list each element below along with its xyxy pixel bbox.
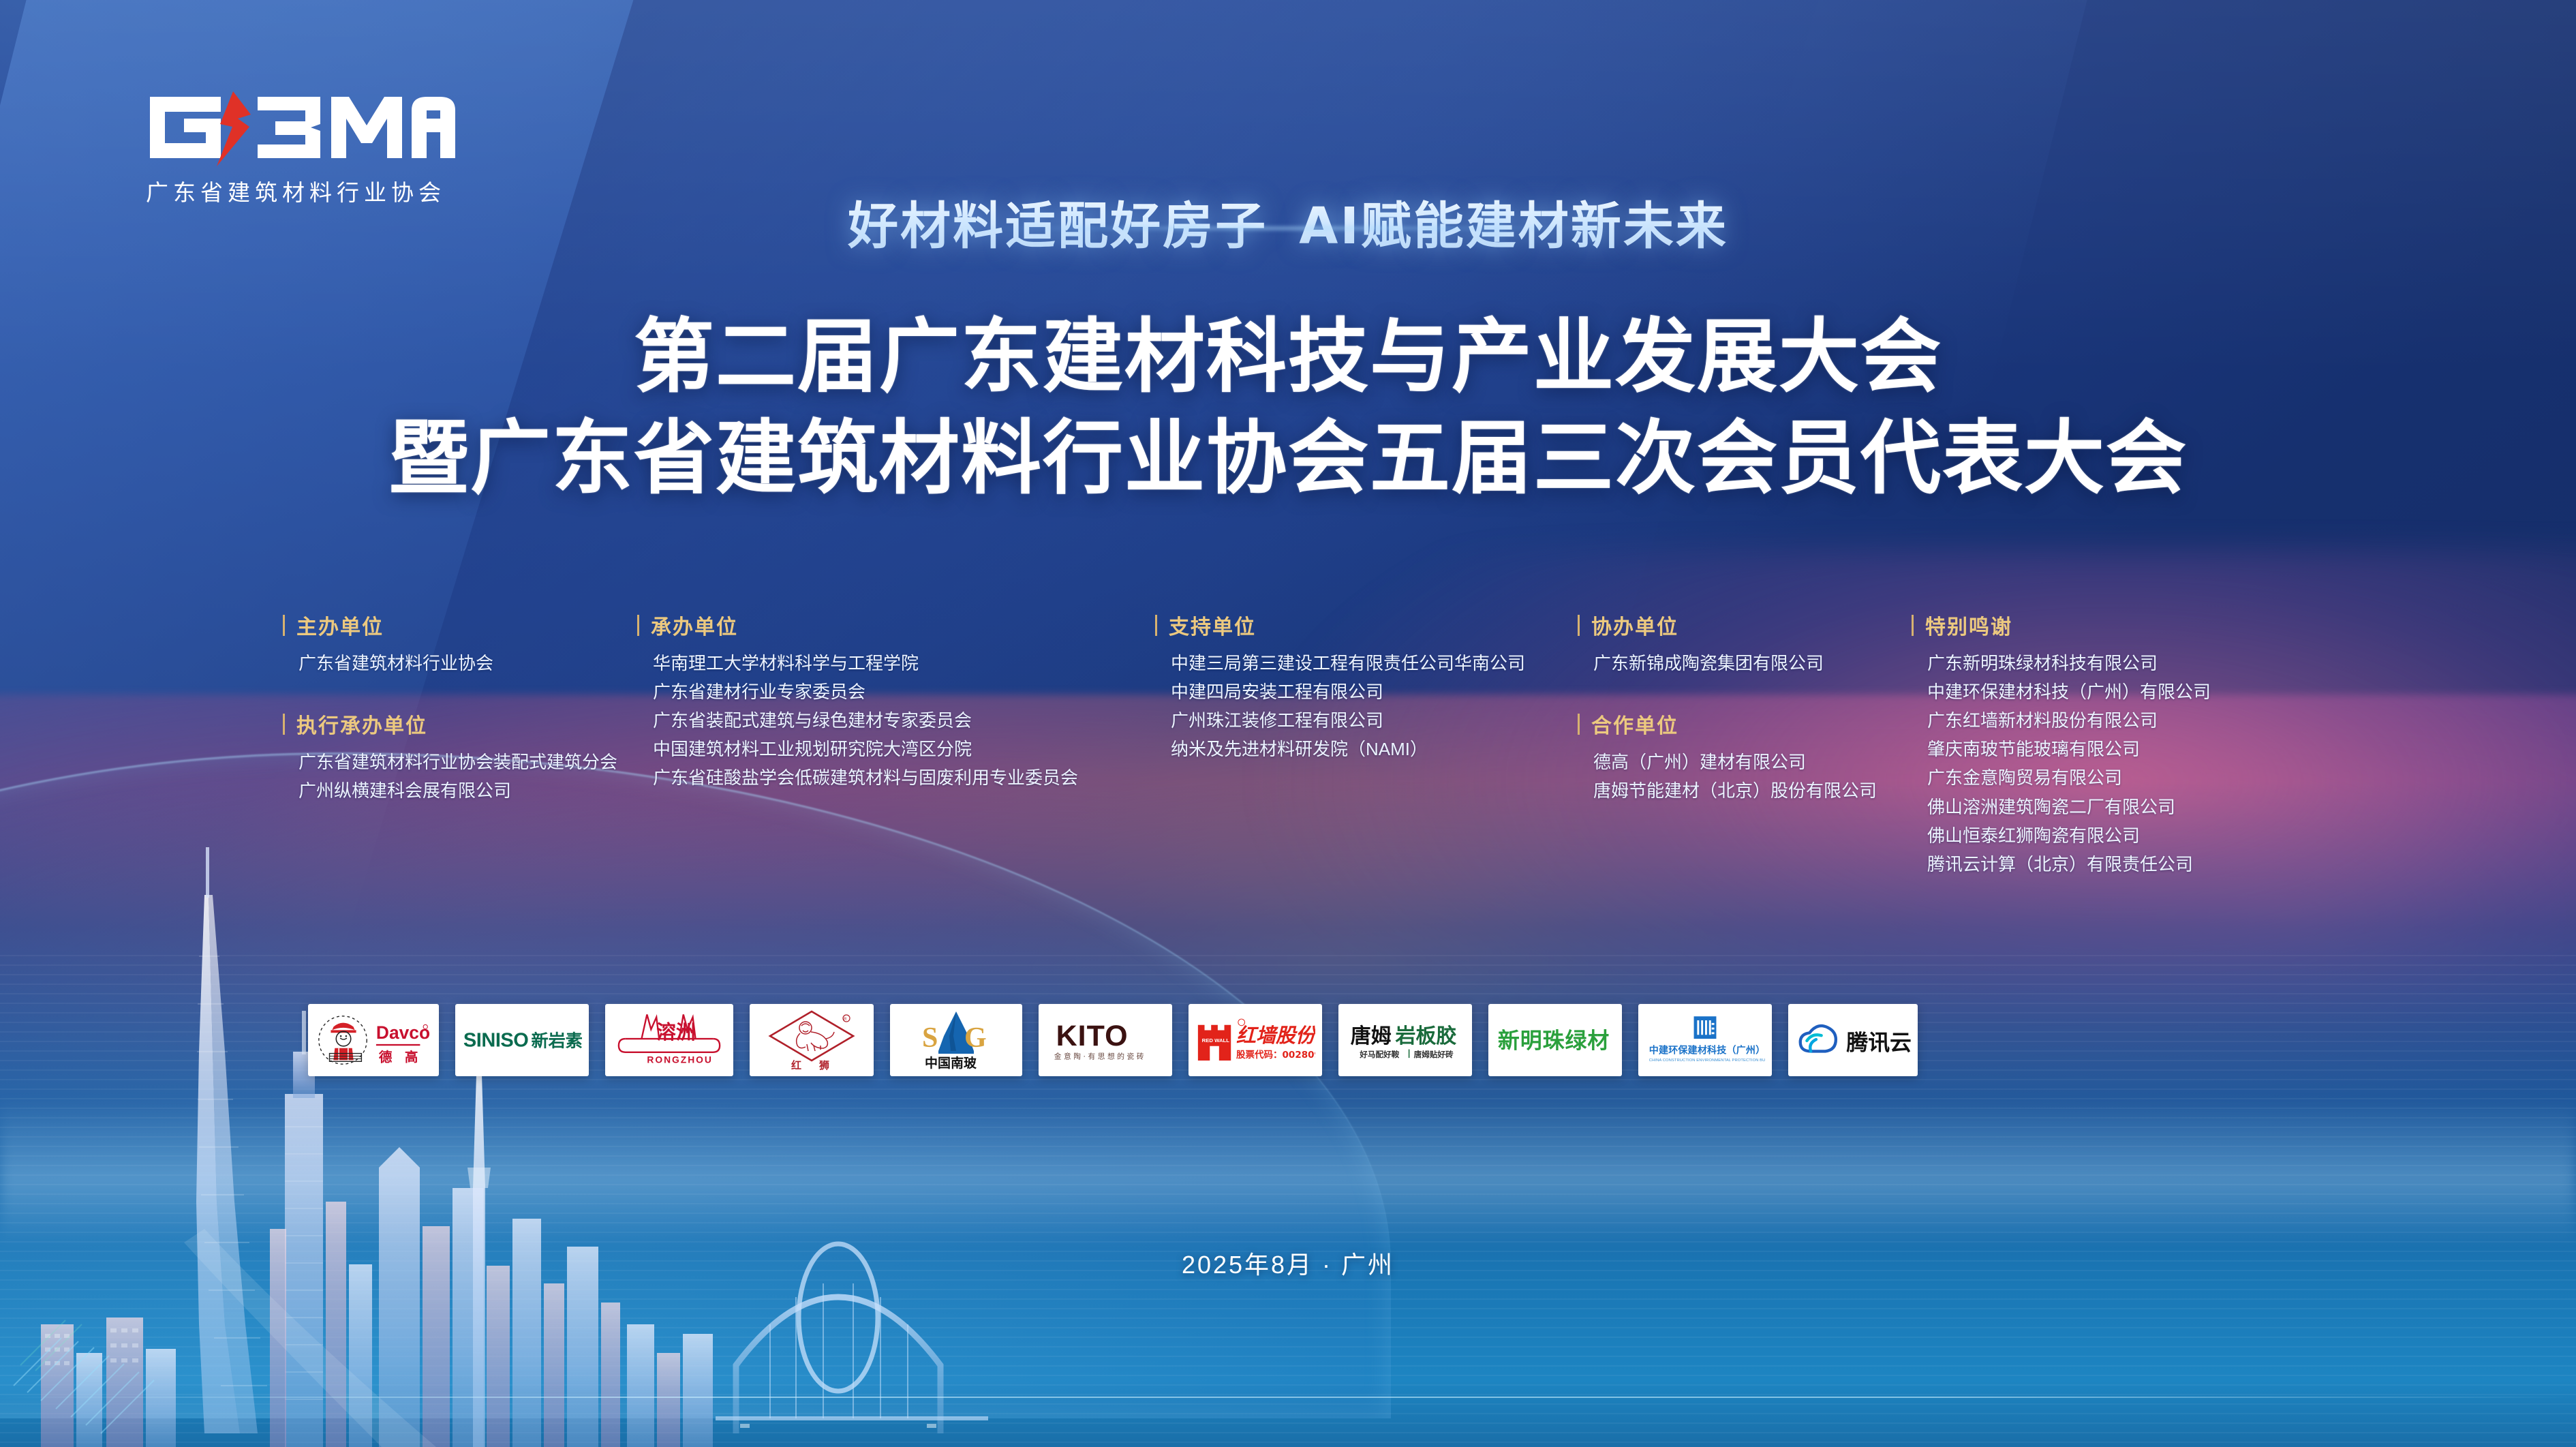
svg-text:红狮: 红狮: [791, 1059, 847, 1071]
svg-text:Davco: Davco: [376, 1022, 430, 1043]
svg-text:红墙股份: 红墙股份: [1236, 1024, 1315, 1047]
guangzhou-skyline-illustration: [0, 847, 1022, 1447]
org-list-support: 中建三局第三建设工程有限责任公司华南公司 中建四局安装工程有限公司 广州珠江装修…: [1155, 649, 1578, 763]
org-list-special-thanks: 广东新明珠绿材科技有限公司 中建环保建材科技（广州）有限公司 广东红墙新材料股份…: [1912, 649, 2266, 879]
org-block-coorganizer: 协办单位 广东新锦成陶瓷集团有限公司: [1578, 610, 1912, 677]
svg-text:岩板胶: 岩板胶: [1395, 1024, 1456, 1048]
svg-text:腾讯云: 腾讯云: [1846, 1029, 1911, 1055]
org-column-2: 承办单位 华南理工大学材料科学与工程学院 广东省建材行业专家委员会 广东省装配式…: [637, 610, 1155, 879]
title-line-1: 第二届广东建材科技与产业发展大会: [0, 310, 2576, 403]
list-item: 华南理工大学材料科学与工程学院: [653, 649, 1155, 677]
list-item: 广州珠江装修工程有限公司: [1171, 706, 1578, 735]
list-item: 广东省硅酸盐学会低碳建筑材料与固废利用专业委员会: [653, 763, 1155, 792]
cscec-block-icon: 中建环保建材科技（广州）有限公司 CHINA CONSTRUCTION ENVI…: [1645, 1013, 1765, 1067]
list-item: 广东省装配式建筑与绿色建材专家委员会: [653, 706, 1155, 735]
building-cluster-right: [627, 1324, 713, 1447]
list-item: 中建环保建材科技（广州）有限公司: [1927, 677, 2266, 706]
org-heading-label: 执行承办单位: [296, 709, 427, 739]
title-line-2: 暨广东省建筑材料行业协会五届三次会员代表大会: [0, 412, 2576, 505]
org-heading-partner: 合作单位: [1578, 709, 1912, 739]
org-list-organizer: 华南理工大学材料科学与工程学院 广东省建材行业专家委员会 广东省装配式建筑与绿色…: [637, 649, 1155, 793]
svg-text:S: S: [922, 1022, 938, 1054]
sponsor-logo-xinmingzhu: 新明珠绿材: [1488, 1004, 1622, 1076]
org-list-partner: 德高（广州）建材有限公司 唐姆节能建材（北京）股份有限公司: [1578, 748, 1912, 805]
banner-stage: 广东省建筑材料行业协会 好材料适配好房子AI赋能建材新未来 第二届广东建材科技与…: [0, 0, 2576, 1447]
list-item: 广东省建筑材料行业协会: [298, 649, 637, 677]
list-item: 肇庆南玻节能玻璃有限公司: [1927, 735, 2266, 763]
sponsor-logo-siniso: SINISO 新岩素: [455, 1004, 589, 1076]
svg-text:RONGZHOU: RONGZHOU: [647, 1054, 712, 1065]
sponsor-logo-rongzhou: 溶洲 RONGZHOU: [605, 1004, 733, 1076]
hongshi-lion-diamond-icon: R 红狮: [761, 1009, 863, 1071]
sponsor-logo-kito: KITO 金意陶·有思想的瓷砖: [1039, 1004, 1172, 1076]
org-heading-special-thanks: 特别鸣谢: [1912, 610, 2266, 640]
org-heading-label: 特别鸣谢: [1925, 610, 2012, 640]
csg-nanbo-icon: S G 中国南玻: [911, 1009, 1001, 1071]
svg-text:RED WALL: RED WALL: [1202, 1037, 1230, 1044]
sponsor-logo-tencent-cloud: 腾讯云: [1788, 1004, 1918, 1076]
kito-wordmark-icon: KITO 金意陶·有思想的瓷砖: [1045, 1016, 1165, 1065]
sponsor-logo-hongshi: R 红狮: [750, 1004, 874, 1076]
gbma-logo-mark: [142, 87, 462, 168]
org-heading-support: 支持单位: [1155, 610, 1578, 640]
svg-text:金意陶·有思想的瓷砖: 金意陶·有思想的瓷砖: [1054, 1052, 1146, 1061]
org-list-host: 广东省建筑材料行业协会: [283, 649, 637, 677]
svg-text:唐姆: 唐姆: [1351, 1024, 1392, 1048]
org-block-special-thanks: 特别鸣谢 广东新明珠绿材科技有限公司 中建环保建材科技（广州）有限公司 广东红墙…: [1912, 610, 2266, 879]
org-block-partner: 合作单位 德高（广州）建材有限公司 唐姆节能建材（北京）股份有限公司: [1578, 709, 1912, 805]
org-block-support: 支持单位 中建三局第三建设工程有限责任公司华南公司 中建四局安装工程有限公司 广…: [1155, 610, 1578, 763]
list-item: 广东金意陶贸易有限公司: [1927, 763, 2266, 792]
footer-date-location: 2025年8月 · 广州: [0, 1245, 2576, 1281]
list-item: 广东省建筑材料行业协会装配式建筑分会: [298, 748, 637, 776]
sponsor-logo-csg: S G 中国南玻: [890, 1004, 1022, 1076]
canton-tower: [196, 847, 267, 1433]
org-column-5: 特别鸣谢 广东新明珠绿材科技有限公司 中建环保建材科技（广州）有限公司 广东红墙…: [1912, 610, 2266, 879]
siniso-wordmark-icon: SINISO 新岩素: [462, 1024, 582, 1056]
sponsor-logo-redwall: RED WALL 红墙股份 股票代码：002809: [1189, 1004, 1322, 1076]
tagline-part2: AI赋能建材新未来: [1299, 197, 1728, 256]
redwall-castle-icon: RED WALL 红墙股份 股票代码：002809: [1195, 1014, 1315, 1067]
org-list-exec-organizer: 广东省建筑材料行业协会装配式建筑分会 广州纵横建科会展有限公司: [283, 748, 637, 805]
list-item: 纳米及先进材料研发院（NAMI）: [1171, 735, 1578, 763]
rongzhou-emblem-icon: 溶洲 RONGZHOU: [612, 1009, 726, 1071]
org-heading-label: 协办单位: [1591, 610, 1678, 640]
org-column-4: 协办单位 广东新锦成陶瓷集团有限公司 合作单位 德高（广州）建材有限公司 唐姆节…: [1578, 610, 1912, 879]
list-item: 广东红墙新材料股份有限公司: [1927, 706, 2266, 735]
list-item: 中国建筑材料工业规划研究院大湾区分院: [653, 735, 1155, 763]
list-item: 腾讯云计算（北京）有限责任公司: [1927, 850, 2266, 879]
page-title: 第二届广东建材科技与产业发展大会 暨广东省建筑材料行业协会五届三次会员代表大会: [0, 310, 2576, 505]
svg-text:唐姆贴好砖: 唐姆贴好砖: [1414, 1050, 1454, 1059]
divider-bar-icon: [1578, 714, 1580, 735]
svg-text:新岩素: 新岩素: [532, 1031, 582, 1051]
org-block-organizer: 承办单位 华南理工大学材料科学与工程学院 广东省建材行业专家委员会 广东省装配式…: [637, 610, 1155, 793]
org-heading-label: 主办单位: [296, 610, 384, 640]
org-heading-label: 合作单位: [1591, 709, 1678, 739]
tencent-cloud-icon: 腾讯云: [1795, 1020, 1911, 1060]
org-heading-host: 主办单位: [283, 610, 637, 640]
tagline-part1: 好材料适配好房子: [848, 197, 1268, 256]
org-heading-label: 承办单位: [651, 610, 738, 640]
divider-bar-icon: [1578, 615, 1580, 636]
svg-text:新明珠绿材: 新明珠绿材: [1498, 1028, 1610, 1054]
divider-bar-icon: [1155, 615, 1157, 636]
org-column-1: 主办单位 广东省建筑材料行业协会 执行承办单位 广东省建筑材料行业协会装配式建筑…: [283, 610, 637, 879]
xinmingzhu-wordmark-icon: 新明珠绿材: [1495, 1024, 1615, 1056]
list-item: 广东新锦成陶瓷集团有限公司: [1593, 649, 1912, 677]
svg-text:好马配好鞍: 好马配好鞍: [1359, 1050, 1399, 1059]
list-item: 中建三局第三建设工程有限责任公司华南公司: [1171, 649, 1578, 677]
sponsor-logo-strip: Davco 德 高 SINISO 新岩素 溶洲: [308, 1004, 1918, 1076]
org-block-host: 主办单位 广东省建筑材料行业协会: [283, 610, 637, 677]
svg-text:中国南玻: 中国南玻: [925, 1055, 977, 1071]
svg-text:股票代码：002809: 股票代码：002809: [1236, 1049, 1315, 1061]
sponsor-logo-davco: Davco 德 高: [308, 1004, 439, 1076]
org-heading-exec-organizer: 执行承办单位: [283, 709, 637, 739]
sponsor-logo-cscec: 中建环保建材科技（广州）有限公司 CHINA CONSTRUCTION ENVI…: [1638, 1004, 1772, 1076]
svg-text:KITO: KITO: [1056, 1020, 1129, 1052]
list-item: 佛山溶洲建筑陶瓷二厂有限公司: [1927, 793, 2266, 821]
list-item: 德高（广州）建材有限公司: [1593, 748, 1912, 776]
sponsor-logo-tangmu: 唐姆 岩板胶 好马配好鞍 唐姆贴好砖: [1338, 1004, 1472, 1076]
org-heading-organizer: 承办单位: [637, 610, 1155, 640]
org-column-3: 支持单位 中建三局第三建设工程有限责任公司华南公司 中建四局安装工程有限公司 广…: [1155, 610, 1578, 879]
svg-text:R: R: [844, 1018, 847, 1022]
list-item: 中建四局安装工程有限公司: [1171, 677, 1578, 706]
davco-worker-icon: Davco 德 高: [315, 1009, 432, 1071]
tagline: 好材料适配好房子AI赋能建材新未来: [0, 185, 2576, 258]
list-item: 佛山恒泰红狮陶瓷有限公司: [1927, 821, 2266, 850]
org-heading-coorganizer: 协办单位: [1578, 610, 1912, 640]
list-item: 唐姆节能建材（北京）股份有限公司: [1593, 776, 1912, 805]
org-block-exec-organizer: 执行承办单位 广东省建筑材料行业协会装配式建筑分会 广州纵横建科会展有限公司: [283, 709, 637, 805]
org-heading-label: 支持单位: [1169, 610, 1256, 640]
building-cluster-left: [41, 1317, 176, 1447]
org-list-coorganizer: 广东新锦成陶瓷集团有限公司: [1578, 649, 1912, 677]
svg-text:SINISO: SINISO: [463, 1030, 528, 1052]
organization-columns: 主办单位 广东省建筑材料行业协会 执行承办单位 广东省建筑材料行业协会装配式建筑…: [283, 610, 2300, 879]
list-item: 广东省建材行业专家委员会: [653, 677, 1155, 706]
svg-text:溶洲: 溶洲: [656, 1020, 695, 1044]
divider-bar-icon: [283, 615, 285, 636]
svg-text:中建环保建材科技（广州）有限公司: 中建环保建材科技（广州）有限公司: [1649, 1044, 1765, 1056]
list-item: 广东新明珠绿材科技有限公司: [1927, 649, 2266, 677]
divider-bar-icon: [283, 714, 285, 735]
svg-text:CHINA CONSTRUCTION ENVIRONMENT: CHINA CONSTRUCTION ENVIRONMENTAL PROTECT…: [1649, 1058, 1765, 1063]
divider-bar-icon: [1912, 615, 1914, 636]
svg-text:G: G: [964, 1022, 987, 1054]
divider-bar-icon: [637, 615, 639, 636]
list-item: 广州纵横建科会展有限公司: [298, 776, 637, 805]
bottom-accent-line: [0, 1397, 2576, 1398]
tangmu-wordmark-icon: 唐姆 岩板胶 好马配好鞍 唐姆贴好砖: [1345, 1017, 1465, 1063]
svg-text:德 高: 德 高: [379, 1049, 422, 1065]
